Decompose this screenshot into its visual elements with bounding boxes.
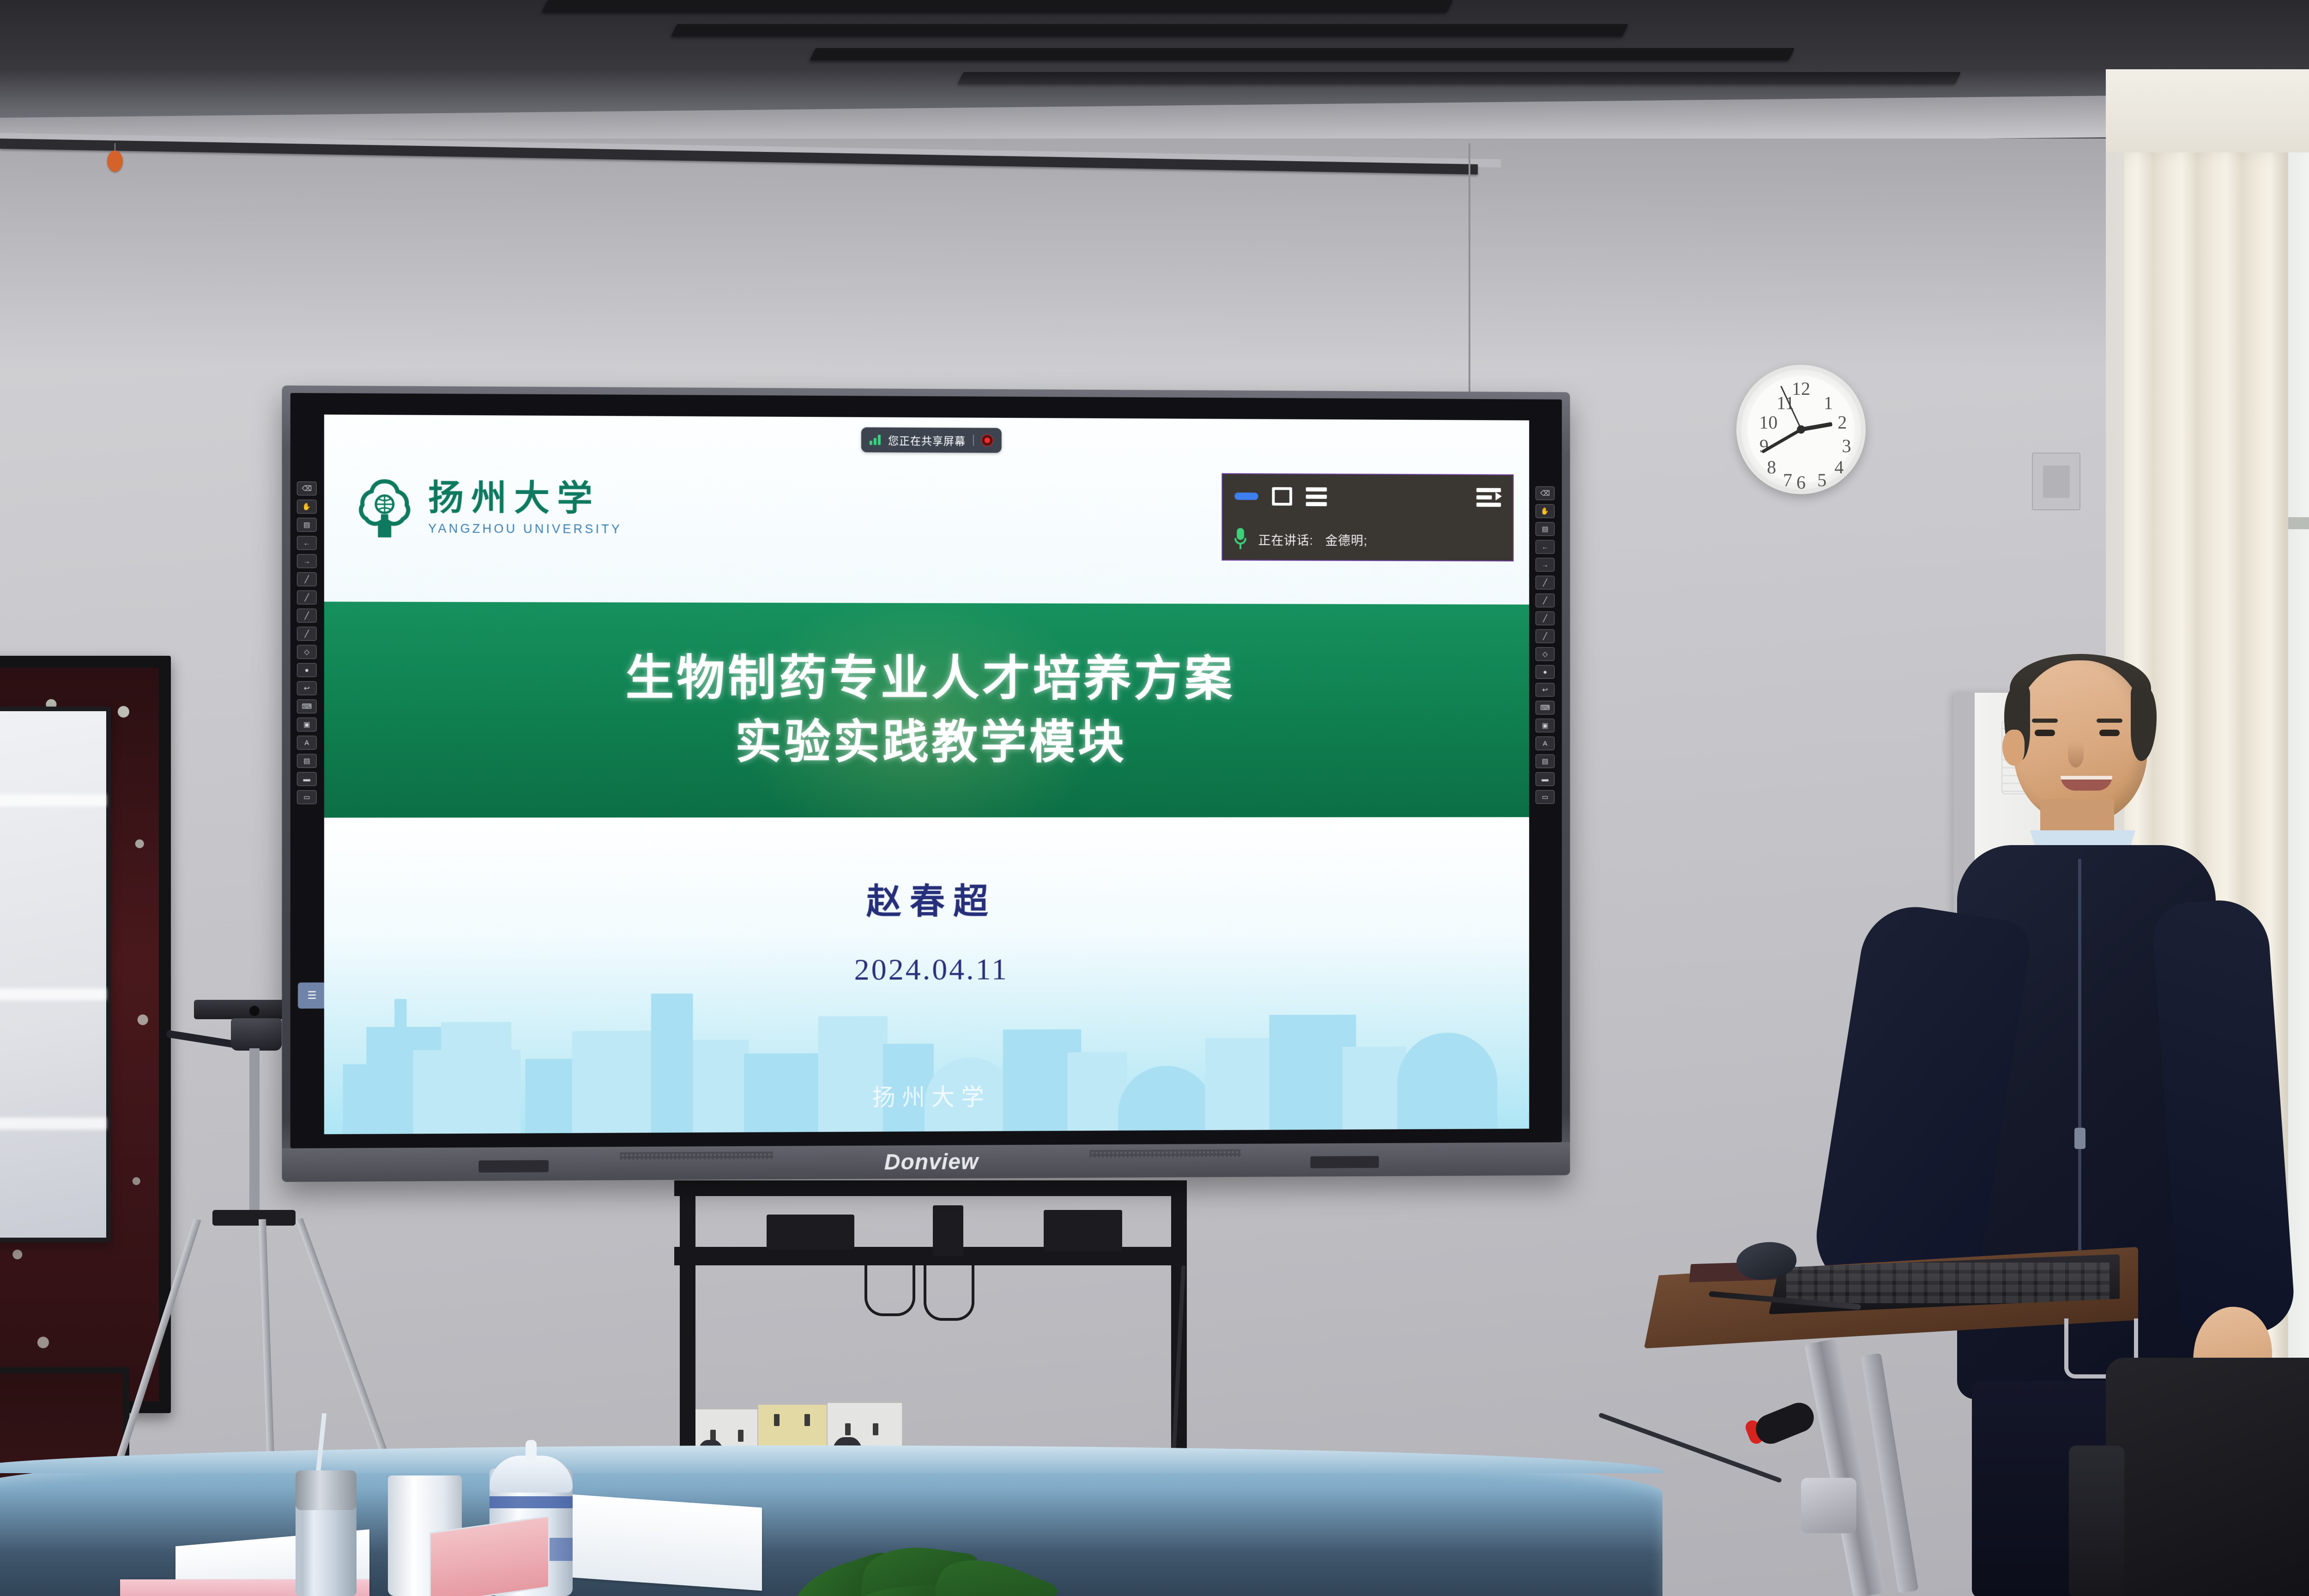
keyboard-icon[interactable]: ⌨ bbox=[297, 699, 317, 713]
pen-thick-icon[interactable]: ╱ bbox=[1535, 611, 1554, 625]
bezel-toolbar-right[interactable]: ⌫ ✋ ▤ ← → ╱ ╱ ╱ ╱ ◇ ● ↩ ⌨ ▣ A ▤ ▬ ▭ bbox=[1535, 486, 1555, 804]
pen-medium-icon[interactable]: ╱ bbox=[297, 591, 317, 605]
fill-icon[interactable]: ● bbox=[1535, 665, 1554, 679]
window-head-beam bbox=[2106, 69, 2309, 152]
slide-footer: 赵春超 2024.04.11 bbox=[324, 817, 1529, 1134]
person-nose bbox=[2068, 742, 2084, 768]
undo-icon[interactable]: ← bbox=[297, 536, 317, 550]
expand-panel-icon[interactable] bbox=[1476, 488, 1501, 507]
clock-number: 8 bbox=[1761, 457, 1782, 478]
person-eyebrow bbox=[2097, 719, 2122, 723]
back-icon[interactable]: ↩ bbox=[1535, 683, 1554, 697]
ceiling-slat bbox=[810, 48, 1795, 60]
presentation-room-photo: clock-brand 12 1 2 3 4 5 6 7 8 9 10 11 长… bbox=[0, 0, 2309, 1596]
keyboard-icon[interactable]: ⌨ bbox=[1535, 701, 1554, 714]
window-transom bbox=[2288, 517, 2309, 529]
shape-icon[interactable]: ◇ bbox=[1535, 647, 1554, 661]
university-name-en: YANGZHOU UNIVERSITY bbox=[428, 522, 622, 537]
stand-bracket bbox=[933, 1205, 963, 1256]
person-mouth bbox=[2061, 776, 2112, 791]
presenter-name: 赵春超 bbox=[866, 873, 997, 924]
slide-title-line1: 生物制药专业人才培养方案 bbox=[626, 653, 1235, 705]
clock-number: 2 bbox=[1832, 412, 1852, 433]
ir-sensor bbox=[478, 1160, 549, 1173]
save-icon[interactable]: ▤ bbox=[297, 518, 317, 532]
display-screen[interactable]: 扬州大学 YANGZHOU UNIVERSITY 您正在共享屏幕 bbox=[324, 415, 1529, 1134]
select-icon[interactable]: ▣ bbox=[297, 718, 317, 731]
meeting-speaking-row: 正在讲话: 金德明; bbox=[1222, 518, 1512, 561]
record-dot-icon[interactable] bbox=[981, 434, 993, 446]
whiteboard-glare bbox=[0, 1118, 106, 1130]
redo-icon[interactable]: → bbox=[1535, 558, 1554, 572]
signal-bars-icon bbox=[870, 435, 881, 445]
text-icon[interactable]: A bbox=[1535, 737, 1554, 750]
undo-icon[interactable]: ← bbox=[1535, 540, 1554, 554]
pen-medium-icon[interactable]: ╱ bbox=[1535, 593, 1554, 607]
wall-access-plate bbox=[2032, 453, 2080, 510]
tripod-leg-hub bbox=[212, 1210, 296, 1226]
highlighter-icon[interactable]: ╱ bbox=[1535, 629, 1554, 643]
hanging-cable bbox=[864, 1265, 915, 1316]
display-brand-name: Donview bbox=[884, 1149, 979, 1175]
person-eye bbox=[2099, 730, 2120, 736]
text-icon[interactable]: A bbox=[297, 736, 317, 750]
chair-armrest bbox=[2069, 1445, 2124, 1596]
shape-icon[interactable]: ◇ bbox=[297, 645, 317, 659]
meeting-panel-toolbar[interactable] bbox=[1222, 474, 1512, 520]
highlighter-icon[interactable]: ╱ bbox=[297, 627, 317, 641]
save-icon[interactable]: ▤ bbox=[1535, 522, 1554, 536]
slide-title-band: 生物制药专业人才培养方案 实验实践教学模块 bbox=[324, 602, 1529, 818]
slide-title-line2: 实验实践教学模块 bbox=[735, 718, 1127, 767]
screenshot-icon[interactable]: ▤ bbox=[1535, 755, 1554, 768]
tripod-center-column bbox=[249, 1048, 260, 1215]
clock-center-pin bbox=[1797, 425, 1805, 434]
person-ear bbox=[2002, 730, 2025, 766]
campus-skyline-illustration bbox=[324, 991, 1529, 1134]
eraser-icon[interactable]: ⌫ bbox=[1535, 486, 1554, 500]
minimize-bar-icon[interactable]: ▬ bbox=[1535, 772, 1554, 786]
yangzhou-university-emblem-icon bbox=[357, 478, 412, 538]
wall-shading bbox=[0, 139, 2134, 369]
hand-icon[interactable]: ✋ bbox=[297, 500, 317, 514]
share-banner-text: 您正在共享屏幕 bbox=[888, 432, 966, 448]
jacket-zipper-pull bbox=[2074, 1128, 2085, 1149]
ceiling-slat bbox=[542, 0, 1453, 12]
hand-icon[interactable]: ✋ bbox=[1535, 504, 1554, 518]
bottle-cap bbox=[296, 1470, 357, 1510]
minimize-icon[interactable] bbox=[1234, 493, 1258, 500]
speaker-name: 金德明; bbox=[1325, 530, 1367, 548]
clock-number: 5 bbox=[1812, 470, 1832, 490]
pen-thick-icon[interactable]: ╱ bbox=[297, 609, 317, 623]
menu-list-icon[interactable]: ☰ bbox=[298, 982, 326, 1009]
whiteboard bbox=[0, 707, 111, 1242]
display-stand-top-rail bbox=[674, 1180, 1187, 1196]
presentation-slide: 扬州大学 YANGZHOU UNIVERSITY 您正在共享屏幕 bbox=[324, 415, 1529, 1134]
office-chair[interactable] bbox=[2106, 1358, 2309, 1596]
clock-number: 3 bbox=[1837, 436, 1857, 456]
hanging-cable bbox=[924, 1265, 974, 1321]
slide-header: 扬州大学 YANGZHOU UNIVERSITY 您正在共享屏幕 bbox=[324, 415, 1529, 605]
camera-lens-icon bbox=[249, 1006, 260, 1016]
more-icon[interactable]: ▭ bbox=[297, 790, 317, 804]
whiteboard-glare bbox=[0, 794, 106, 806]
redo-icon[interactable]: → bbox=[297, 554, 317, 568]
more-icon[interactable]: ▭ bbox=[1535, 790, 1554, 804]
pen-thin-icon[interactable]: ╱ bbox=[1535, 576, 1554, 590]
fill-icon[interactable]: ● bbox=[297, 663, 317, 677]
display-bezel: ⌫ ✋ ▤ ← → ╱ ╱ ╱ ╱ ◇ ● ↩ ⌨ ▣ A ▤ ▬ ▭ bbox=[290, 393, 1562, 1149]
whiteboard-glare bbox=[0, 988, 106, 1000]
eraser-icon[interactable]: ⌫ bbox=[297, 482, 317, 496]
participants-list-icon[interactable] bbox=[1306, 487, 1327, 506]
clock-number: 1 bbox=[1818, 393, 1838, 413]
back-icon[interactable]: ↩ bbox=[297, 681, 317, 695]
table-plant bbox=[785, 1538, 1071, 1596]
rail-orange-tag bbox=[107, 151, 123, 172]
stand-device-box bbox=[767, 1215, 854, 1250]
banner-divider bbox=[973, 435, 974, 446]
speaking-label: 正在讲话: bbox=[1258, 530, 1313, 548]
clock-number: 10 bbox=[1758, 412, 1778, 433]
cup-pattern-band bbox=[490, 1496, 573, 1508]
lectern-hinge bbox=[1801, 1478, 1856, 1533]
restore-window-icon[interactable] bbox=[1272, 487, 1292, 506]
bezel-toolbar-left[interactable]: ⌫ ✋ ▤ ← → ╱ ╱ ╱ ╱ ◇ ● ↩ ⌨ ▣ A ▤ ▬ ▭ bbox=[297, 482, 318, 804]
person-eyebrow bbox=[2032, 719, 2058, 723]
ceiling-slat bbox=[671, 24, 1629, 36]
cup-lid-knob bbox=[526, 1440, 537, 1462]
university-name-cn: 扬州大学 bbox=[428, 481, 622, 517]
slide-watermark: 扬州大学 bbox=[872, 1079, 991, 1112]
clock-face: clock-brand 12 1 2 3 4 5 6 7 8 9 10 11 bbox=[1747, 376, 1855, 483]
minimize-bar-icon[interactable]: ▬ bbox=[297, 772, 317, 786]
select-icon[interactable]: ▣ bbox=[1535, 719, 1554, 732]
interactive-flat-panel-display[interactable]: ⌫ ✋ ▤ ← → ╱ ╱ ╱ ╱ ◇ ● ↩ ⌨ ▣ A ▤ ▬ ▭ bbox=[282, 386, 1570, 1182]
meeting-control-panel[interactable]: 正在讲话: 金德明; bbox=[1221, 473, 1513, 562]
person-hair-side bbox=[2131, 687, 2157, 761]
display-brand-bar: Donview bbox=[282, 1142, 1570, 1182]
jacket-zipper bbox=[2078, 859, 2081, 1265]
ir-sensor bbox=[1311, 1156, 1379, 1168]
pen-thin-icon[interactable]: ╱ bbox=[297, 572, 317, 586]
person-head bbox=[2013, 660, 2147, 822]
screenshot-icon[interactable]: ▤ bbox=[297, 754, 317, 768]
university-logo-block: 扬州大学 YANGZHOU UNIVERSITY bbox=[357, 478, 622, 539]
paper-document bbox=[568, 1494, 762, 1590]
wall-clock: clock-brand 12 1 2 3 4 5 6 7 8 9 10 11 bbox=[1736, 365, 1866, 494]
tripod-head bbox=[231, 1018, 282, 1051]
presentation-date: 2024.04.11 bbox=[854, 952, 1009, 987]
clock-hour-hand bbox=[1801, 422, 1832, 432]
person-eye bbox=[2035, 730, 2055, 736]
stand-power-adapter bbox=[1044, 1210, 1122, 1251]
microphone-icon bbox=[1234, 528, 1246, 550]
screen-sharing-banner[interactable]: 您正在共享屏幕 bbox=[861, 427, 1002, 453]
